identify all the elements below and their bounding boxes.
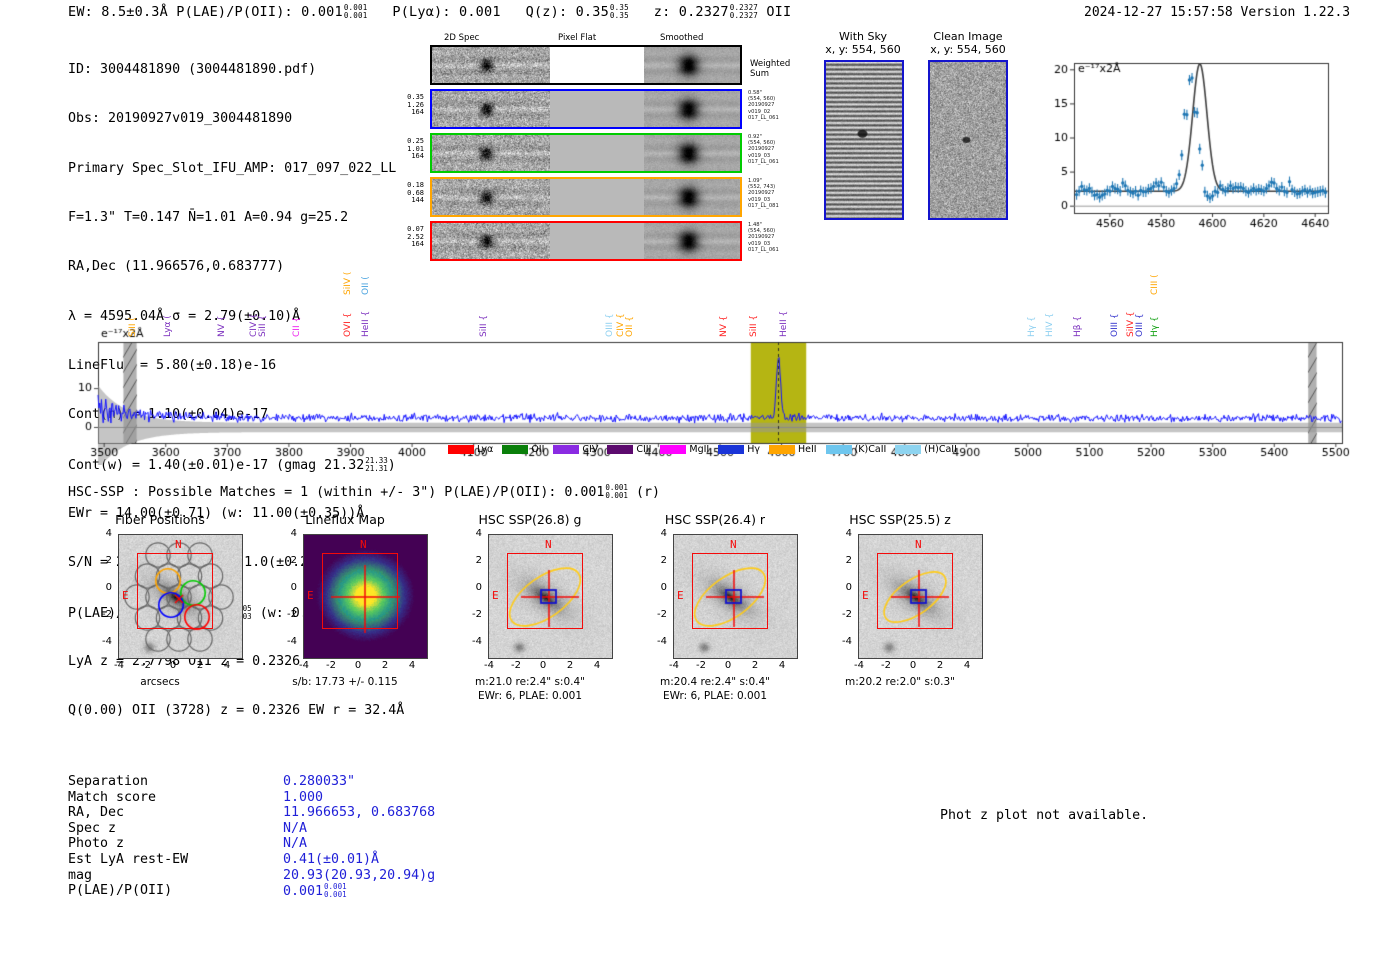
cutout-fov-box-4 (877, 553, 953, 629)
summary-value-5: 0.41(±0.01)Å (283, 852, 379, 868)
summary-row-6: mag20.93(20.93,20.94)g (68, 868, 435, 884)
spec2d-row-3-left-values: 0.180.68144 (398, 182, 424, 205)
cutout-ytick-0-4: -4 (82, 636, 112, 647)
legend-label-(H)CaII: (H)CaII (924, 444, 957, 455)
legend-label-OII: OII (531, 444, 544, 455)
weighted-sum-label: Weighted Sum (750, 59, 790, 79)
emission-label-9: HeII { (361, 311, 371, 337)
spec2d-cell-1-2 (644, 91, 740, 127)
cutout-fov-box-0 (137, 553, 213, 629)
gaussian-fit-chart (1030, 45, 1340, 245)
header-z: z: 0.2327 (654, 4, 729, 20)
spec2d-cell-4-1 (550, 223, 644, 259)
spec2d-row-2-left-values: 0.251.01164 (398, 138, 424, 161)
spec2d-title-2dspec: 2D Spec (444, 33, 479, 43)
cutout-image-4[interactable]: NE (858, 534, 983, 659)
spec2d-cell-4-2 (644, 223, 740, 259)
header-plae-bounds: 0.0010.001 (344, 4, 368, 20)
legend-swatch-OII (502, 445, 528, 454)
cutout-xtick-4-3: 2 (928, 660, 952, 671)
cutout-caption1-3: m:20.4 re:2.4" s:0.4" (610, 676, 820, 688)
spec2d-cell-3-1 (550, 179, 644, 215)
cutout-ytick-3-3: -2 (637, 609, 667, 620)
spec2d-cell-0-0 (432, 47, 550, 83)
emission-label-13: OII { (625, 316, 635, 337)
info-line-id: ID: 3004481890 (3004481890.pdf) (68, 62, 404, 78)
cutout-ytick-4-4: -4 (822, 636, 852, 647)
spec2d-cell-3-0 (432, 179, 550, 215)
legend-item-HeII: HeII (769, 444, 817, 455)
info-line-seeing: F=1.3" T=0.147 N̄=1.01 A=0.94 g=25.2 (68, 210, 404, 226)
cutout-xtick-0-4: 4 (215, 660, 239, 671)
header-qz-bounds: 0.350.35 (610, 4, 629, 20)
emission-line-legend: LyαOIICIVCIIIMgIIHγHeII(K)CaII(H)CaII (448, 444, 957, 455)
cutout-xtick-1-1: -2 (319, 660, 343, 671)
legend-label-(K)CaII: (K)CaII (855, 444, 887, 455)
summary-key-4: Photo z (68, 836, 283, 852)
north-indicator-3: N (730, 538, 737, 551)
legend-label-MgII: MgII (689, 444, 709, 455)
cutout-xtick-0-0: -4 (107, 660, 131, 671)
summary-row-0: Separation0.280033" (68, 774, 435, 790)
north-indicator-4: N (915, 538, 922, 551)
info-line-slot: Primary Spec_Slot_IFU_AMP: 017_097_022_L… (68, 161, 404, 177)
summary-key-6: mag (68, 868, 283, 884)
cutout-ytick-3-1: 2 (637, 555, 667, 566)
summary-value-1: 1.000 (283, 790, 323, 806)
timestamp-version: 2024-12-27 15:57:58 Version 1.22.3 (1084, 5, 1350, 20)
cutout-image-2[interactable]: NE (488, 534, 613, 659)
spec2d-cell-0-1 (550, 47, 644, 83)
cutout-panel-1: Lineflux MapNE420-2-4-4-2024s/b: 17.73 +… (245, 512, 445, 722)
cutout-ytick-3-0: 4 (637, 528, 667, 539)
hsc-plae-bounds: 0.0010.001 (605, 484, 628, 500)
cutout-ytick-3-2: 0 (637, 582, 667, 593)
emission-label-7: OII ( (361, 276, 371, 295)
cutout-xtick-1-4: 4 (400, 660, 424, 671)
summary-value-0: 0.280033" (283, 774, 355, 790)
summary-row-2: RA, Dec11.966653, 0.683768 (68, 805, 435, 821)
cutout-image-0[interactable]: NE (118, 534, 243, 659)
emission-label-18: HIV { (1045, 313, 1055, 337)
cutout-ytick-4-1: 2 (822, 555, 852, 566)
emission-label-8: OVI { (343, 313, 353, 337)
emission-label-24: Hγ { (1150, 316, 1160, 337)
match-summary-table: Separation0.280033"Match score1.000RA, D… (68, 774, 435, 899)
cutout-caption1-1: s/b: 17.73 +/- 0.115 (240, 676, 450, 688)
cutout-xtick-1-2: 0 (346, 660, 370, 671)
summary-value-7: 0.0010.0010.001 (283, 883, 347, 899)
cutout-caption2-2: EWr: 6, PLAE: 0.001 (425, 690, 635, 702)
summary-plae-bounds: 0.0010.001 (324, 883, 347, 899)
cutout-title-4: HSC SSP(25.5) z (800, 512, 1000, 527)
east-indicator-3: E (677, 589, 684, 602)
cutout-ytick-1-2: 0 (267, 582, 297, 593)
legend-item-MgII: MgII (660, 444, 709, 455)
emission-label-14: NV { (719, 316, 729, 337)
legend-item-OII: OII (502, 444, 544, 455)
east-indicator-4: E (862, 589, 869, 602)
cutout-caption2-3: EWr: 6, PLAE: 0.001 (610, 690, 820, 702)
cutout-ytick-1-3: -2 (267, 609, 297, 620)
legend-swatch-MgII (660, 445, 686, 454)
spec2d-row-3-meta: 1.09"(552, 743)20190927v019_03017_LL_081 (748, 178, 792, 209)
summary-row-3: Spec zN/A (68, 821, 435, 837)
spec2d-cell-0-2 (644, 47, 740, 83)
cutout-title-2: HSC SSP(26.8) g (430, 512, 630, 527)
emission-label-11: OIII { (605, 313, 615, 337)
spec2d-row-4 (430, 221, 742, 261)
legend-item-CIII: CIII (607, 444, 651, 455)
north-indicator-1: N (360, 538, 367, 551)
header-plya: P(Lyα): 0.001 (392, 4, 500, 20)
emission-label-10: SiII { (479, 315, 489, 337)
info-line-radec: RA,Dec (11.966576,0.683777) (68, 259, 404, 275)
spec2d-row-0 (430, 45, 742, 85)
legend-swatch-Lyα (448, 445, 474, 454)
cutout-fov-box-3 (692, 553, 768, 629)
spec2d-title-pixelflat: Pixel Flat (558, 33, 596, 43)
spec2d-row-1 (430, 89, 742, 129)
photz-note: Phot z plot not available. (940, 808, 1148, 823)
north-indicator-0: N (175, 538, 182, 551)
cutout-ytick-1-1: 2 (267, 555, 297, 566)
emission-label-22: OIII { (1135, 313, 1145, 337)
summary-key-1: Match score (68, 790, 283, 806)
spec2d-row-3 (430, 177, 742, 217)
cutout-ytick-1-4: -4 (267, 636, 297, 647)
summary-row-7: P(LAE)/P(OII)0.0010.0010.001 (68, 883, 435, 899)
emission-label-19: Hβ { (1073, 316, 1083, 337)
cutout-xtick-0-3: 2 (188, 660, 212, 671)
legend-label-CIII: CIII (636, 444, 651, 455)
cutout-ytick-0-1: 2 (82, 555, 112, 566)
hsc-match-text: HSC-SSP : Possible Matches = 1 (within +… (68, 485, 604, 500)
cutout-ytick-2-0: 4 (452, 528, 482, 539)
cutout-xtick-1-3: 2 (373, 660, 397, 671)
spec2d-cell-2-1 (550, 135, 644, 171)
cutout-ytick-2-4: -4 (452, 636, 482, 647)
legend-swatch-(K)CaII (826, 445, 852, 454)
emission-label-0: SiII ( (128, 317, 138, 337)
summary-row-4: Photo zN/A (68, 836, 435, 852)
spec2d-cell-2-2 (644, 135, 740, 171)
spec2d-cell-3-2 (644, 179, 740, 215)
north-indicator-2: N (545, 538, 552, 551)
legend-item-(H)CaII: (H)CaII (895, 444, 957, 455)
cutout-xtick-2-2: 0 (531, 660, 555, 671)
emission-label-16: HeII { (779, 311, 789, 337)
emission-label-1: Lyα ( (163, 315, 173, 337)
cutout-xtick-3-2: 0 (716, 660, 740, 671)
emission-label-6: SiIV ( (343, 272, 353, 295)
emission-label-17: Hγ { (1027, 316, 1037, 337)
spec2d-row-2 (430, 133, 742, 173)
cutout-ytick-2-2: 0 (452, 582, 482, 593)
east-indicator-2: E (492, 589, 499, 602)
legend-label-Lyα: Lyα (477, 444, 493, 455)
legend-swatch-(H)CaII (895, 445, 921, 454)
cutout-caption1-4: m:20.2 re:2.0" s:0.3" (795, 676, 1005, 688)
summary-key-0: Separation (68, 774, 283, 790)
summary-value-2: 11.966653, 0.683768 (283, 805, 435, 821)
summary-value-3: N/A (283, 821, 307, 837)
spec2d-cell-1-0 (432, 91, 550, 127)
with-sky-image (824, 60, 904, 220)
legend-label-HeII: HeII (798, 444, 817, 455)
cutout-xtick-2-0: -4 (477, 660, 501, 671)
cutout-xtick-4-1: -2 (874, 660, 898, 671)
spec2d-row-4-meta: 1.48"(554, 560)20190927v019_03017_LL_061 (748, 222, 792, 253)
cutout-ytick-3-4: -4 (637, 636, 667, 647)
with-sky-title: With Sky (818, 30, 908, 43)
cutout-ytick-0-3: -2 (82, 609, 112, 620)
cutout-xtick-0-1: -2 (134, 660, 158, 671)
header-z-class: OII (766, 4, 791, 20)
legend-swatch-CIV (553, 445, 579, 454)
cutout-caption1-2: m:21.0 re:2.4" s:0.4" (425, 676, 635, 688)
cutout-ytick-4-2: 0 (822, 582, 852, 593)
spec2d-row-1-meta: 0.58"(554, 560)20190927v019_02017_LL_061 (748, 90, 792, 121)
cutout-xtick-3-3: 2 (743, 660, 767, 671)
cutout-title-3: HSC SSP(26.4) r (615, 512, 815, 527)
cutout-ytick-0-2: 0 (82, 582, 112, 593)
cutout-image-3[interactable]: NE (673, 534, 798, 659)
cutout-xtick-4-4: 4 (955, 660, 979, 671)
emission-label-23: CIII ( (1150, 274, 1160, 295)
info-line-obs: Obs: 20190927v019_3004481890 (68, 111, 404, 127)
cutout-panel-3: HSC SSP(26.4) rNE420-2-4-4-2024m:20.4 re… (615, 512, 815, 722)
legend-item-Hγ: Hγ (718, 444, 760, 455)
cutout-ytick-2-1: 2 (452, 555, 482, 566)
cutout-title-1: Lineflux Map (245, 512, 445, 527)
cutout-ytick-1-0: 4 (267, 528, 297, 539)
cutout-ytick-4-3: -2 (822, 609, 852, 620)
hsc-ssp-match-line: HSC-SSP : Possible Matches = 1 (within +… (68, 484, 660, 500)
emission-label-5: CII { (292, 317, 302, 337)
clean-image-canvas (928, 60, 1008, 220)
cutout-fov-box-1 (322, 553, 398, 629)
emission-label-2: NV { (217, 316, 227, 337)
header-ew-plae: EW: 8.5±0.3Å P(LAE)/P(OII): 0.001 (68, 4, 343, 20)
cutout-xtick-2-3: 2 (558, 660, 582, 671)
legend-item-CIV: CIV (553, 444, 598, 455)
emission-label-20: OIII { (1110, 313, 1120, 337)
emission-label-15: SiII { (749, 315, 759, 337)
cutout-xtick-0-2: 0 (161, 660, 185, 671)
clean-image-coords: x, y: 554, 560 (914, 43, 1022, 56)
spec2d-title-smoothed: Smoothed (660, 33, 703, 43)
cutout-xtick-1-0: -4 (292, 660, 316, 671)
header-qz: Q(z): 0.35 (526, 4, 609, 20)
cutout-panel-2: HSC SSP(26.8) gNE420-2-4-4-2024m:21.0 re… (430, 512, 630, 722)
cutout-ytick-0-0: 4 (82, 528, 112, 539)
cutout-panel-0: Fiber PositionsNE420-2-4-4-2024arcsecs (60, 512, 260, 722)
legend-swatch-HeII (769, 445, 795, 454)
cutout-ytick-4-0: 4 (822, 528, 852, 539)
full-spectrum-chart (60, 280, 1350, 465)
legend-item-(K)CaII: (K)CaII (826, 444, 887, 455)
summary-row-5: Est LyA rest-EW0.41(±0.01)Å (68, 852, 435, 868)
cutout-xtick-2-1: -2 (504, 660, 528, 671)
cutout-caption1-0: arcsecs (55, 676, 265, 688)
cutout-panel-4: HSC SSP(25.5) zNE420-2-4-4-2024m:20.2 re… (800, 512, 1000, 722)
cutout-xtick-4-0: -4 (847, 660, 871, 671)
spec2d-row-1-left-values: 0.351.26164 (398, 94, 424, 117)
cutout-xtick-3-0: -4 (662, 660, 686, 671)
summary-key-7: P(LAE)/P(OII) (68, 883, 283, 899)
cutout-xtick-2-4: 4 (585, 660, 609, 671)
spec2d-cell-2-0 (432, 135, 550, 171)
spec2d-row-4-left-values: 0.072.52164 (398, 226, 424, 249)
east-indicator-1: E (307, 589, 314, 602)
spec2d-cell-1-1 (550, 91, 644, 127)
legend-item-Lyα: Lyα (448, 444, 493, 455)
cutout-row: Fiber PositionsNE420-2-4-4-2024arcsecsLi… (40, 512, 1040, 722)
summary-key-5: Est LyA rest-EW (68, 852, 283, 868)
east-indicator-0: E (122, 589, 129, 602)
cutout-xtick-3-4: 4 (770, 660, 794, 671)
spec2d-row-2-meta: 0.92"(554, 560)20190927v019_03017_LL_061 (748, 134, 792, 165)
cutout-xtick-3-1: -2 (689, 660, 713, 671)
cutout-ytick-2-3: -2 (452, 609, 482, 620)
spec2d-cell-4-0 (432, 223, 550, 259)
legend-label-CIV: CIV (582, 444, 598, 455)
legend-swatch-CIII (607, 445, 633, 454)
cutout-fov-box-2 (507, 553, 583, 629)
emission-label-4: SiII { (258, 315, 268, 337)
header-z-bounds: 0.23270.2327 (730, 4, 758, 20)
summary-value-4: N/A (283, 836, 307, 852)
summary-key-2: RA, Dec (68, 805, 283, 821)
legend-label-Hγ: Hγ (747, 444, 760, 455)
2d-spectra-panel: 2D Spec Pixel Flat Smoothed Weighted Sum… (430, 33, 790, 253)
cutout-image-1[interactable]: NE (303, 534, 428, 659)
cutout-title-0: Fiber Positions (60, 512, 260, 527)
summary-row-1: Match score1.000 (68, 790, 435, 806)
summary-key-3: Spec z (68, 821, 283, 837)
legend-swatch-Hγ (718, 445, 744, 454)
cutout-xtick-4-2: 0 (901, 660, 925, 671)
clean-image-title: Clean Image (918, 30, 1018, 43)
summary-value-6: 20.93(20.93,20.94)g (283, 868, 435, 884)
header-summary-line: EW: 8.5±0.3Å P(LAE)/P(OII): 0.0010.0010.… (68, 4, 791, 20)
hsc-band: (r) (636, 485, 660, 500)
with-sky-coords: x, y: 554, 560 (810, 43, 916, 56)
